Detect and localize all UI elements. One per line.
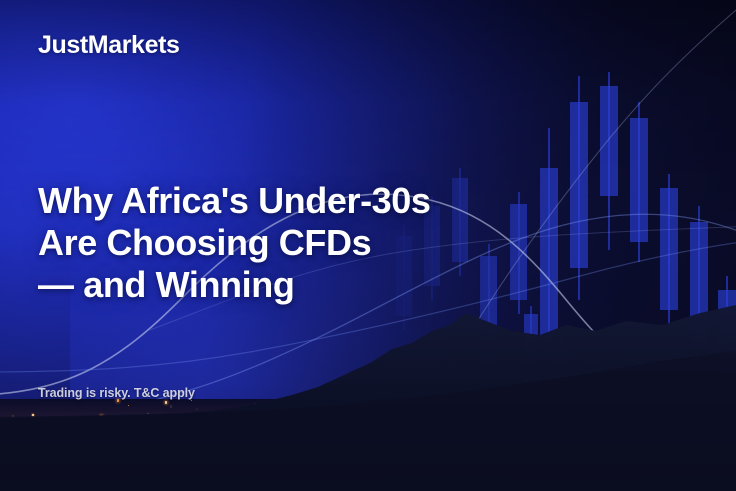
headline-line-3: — and Winning: [38, 264, 431, 306]
brand-logo[interactable]: JustMarkets: [38, 31, 180, 60]
headline-line-2: Are Choosing CFDs: [38, 222, 431, 264]
promo-banner: JustMarkets Why Africa's Under-30s Are C…: [0, 0, 736, 491]
headline: Why Africa's Under-30s Are Choosing CFDs…: [38, 180, 431, 306]
headline-line-1: Why Africa's Under-30s: [38, 180, 431, 222]
risk-disclaimer: Trading is risky. T&C apply: [38, 386, 195, 400]
